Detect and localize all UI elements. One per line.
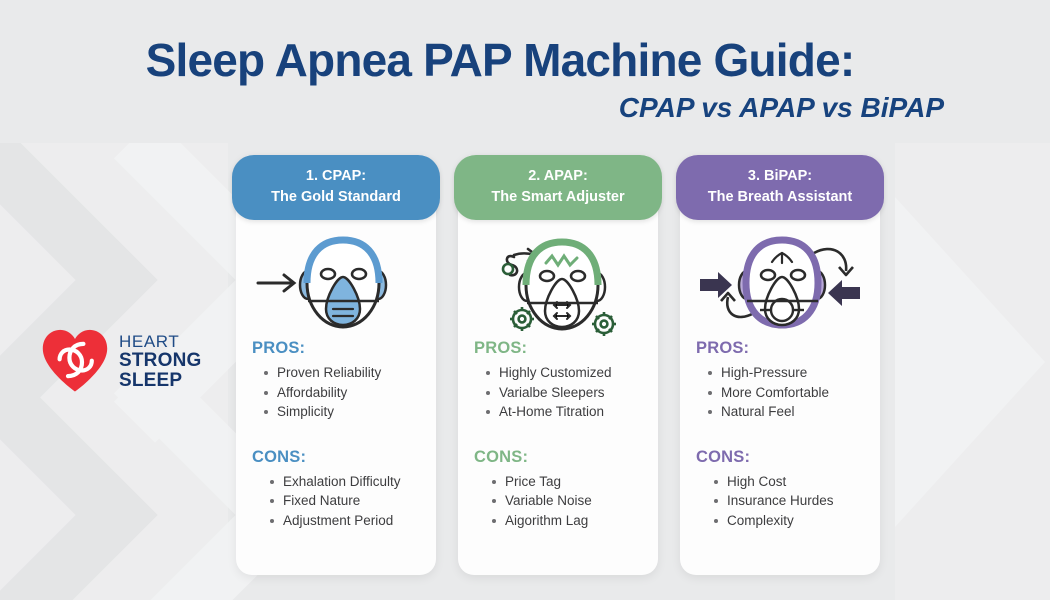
cons-section-apap: CONS: Price Tag Variable Noise Aigorithm… [458,448,658,531]
card-header-apap: 2. APAP: The Smart Adjuster [454,155,662,220]
cpap-mask-single-arrow-icon [236,227,436,339]
cons-list-apap: Price Tag Variable Noise Aigorithm Lag [474,472,642,531]
page-header: Sleep Apnea PAP Machine Guide: CPAP vs A… [0,0,1050,143]
card-title-line2: The Breath Assistant [682,187,878,208]
page-title: Sleep Apnea PAP Machine Guide: [0,36,1006,84]
cons-section-cpap: CONS: Exhalation Difficulty Fixed Nature… [236,448,436,531]
card-title-line1: 1. CPAP: [238,166,434,187]
list-item: Natural Feel [706,402,864,422]
pros-label: PROS: [474,339,642,358]
list-item: Affordability [262,383,420,403]
bipap-mask-dual-arrows-icon [680,227,880,339]
list-item: Fixed Nature [268,491,420,511]
cons-label: CONS: [474,448,642,467]
comparison-cards: 1. CPAP: The Gold Standard [236,155,1026,575]
card-cpap[interactable]: 1. CPAP: The Gold Standard [236,155,436,575]
list-item: Exhalation Difficulty [268,472,420,492]
list-item: Highly Customized [484,363,642,383]
list-item: High-Pressure [706,363,864,383]
pros-label: PROS: [252,339,420,358]
heart-spiral-icon [40,327,110,393]
list-item: Adjustment Period [268,511,420,531]
page-subtitle: CPAP vs APAP vs BiPAP [0,92,1006,124]
card-title-line2: The Smart Adjuster [460,187,656,208]
pros-section-cpap: PROS: Proven Reliability Affordability S… [236,339,436,422]
card-title-line2: The Gold Standard [238,187,434,208]
list-item: Insurance Hurdes [712,491,864,511]
card-title-line1: 3. BiPAP: [682,166,878,187]
card-apap[interactable]: 2. APAP: The Smart Adjuster [458,155,658,575]
card-header-cpap: 1. CPAP: The Gold Standard [232,155,440,220]
card-title-line1: 2. APAP: [460,166,656,187]
cons-section-bipap: CONS: High Cost Insurance Hurdes Complex… [680,448,880,531]
pros-list-apap: Highly Customized Varialbe Sleepers At-H… [474,363,642,422]
list-item: Aigorithm Lag [490,511,642,531]
cons-list-cpap: Exhalation Difficulty Fixed Nature Adjus… [252,472,420,531]
cons-label: CONS: [696,448,864,467]
pros-section-bipap: PROS: High-Pressure More Comfortable Nat… [680,339,880,422]
cons-list-bipap: High Cost Insurance Hurdes Complexity [696,472,864,531]
list-item: Proven Reliability [262,363,420,383]
list-item: Complexity [712,511,864,531]
logo-line-sleep: SLEEP [119,371,201,390]
card-bipap[interactable]: 3. BiPAP: The Breath Assistant [680,155,880,575]
pros-list-cpap: Proven Reliability Affordability Simplic… [252,363,420,422]
list-item: Price Tag [490,472,642,492]
logo-line-strong: STRONG [119,351,201,370]
pros-label: PROS: [696,339,864,358]
list-item: Varialbe Sleepers [484,383,642,403]
list-item: Variable Noise [490,491,642,511]
cons-label: CONS: [252,448,420,467]
list-item: Simplicity [262,402,420,422]
apap-mask-gears-icon [458,227,658,339]
brand-logo: HEART STRONG SLEEP [40,327,201,393]
pros-list-bipap: High-Pressure More Comfortable Natural F… [696,363,864,422]
pros-section-apap: PROS: Highly Customized Varialbe Sleeper… [458,339,658,422]
card-header-bipap: 3. BiPAP: The Breath Assistant [676,155,884,220]
list-item: More Comfortable [706,383,864,403]
list-item: High Cost [712,472,864,492]
logo-wordmark: HEART STRONG SLEEP [119,331,201,390]
logo-line-heart: HEART [119,333,201,350]
list-item: At-Home Titration [484,402,642,422]
